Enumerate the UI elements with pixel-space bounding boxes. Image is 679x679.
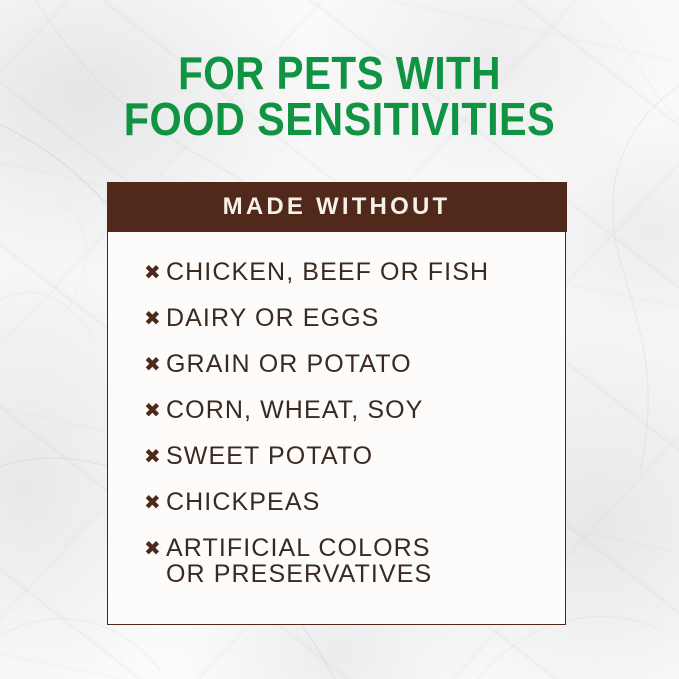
cross-mark-icon: ✖ bbox=[144, 259, 166, 285]
list-item-label: CHICKPEAS bbox=[166, 489, 547, 515]
list-item: ✖ CHICKEN, BEEF OR FISH bbox=[144, 259, 547, 285]
list-item-label: ARTIFICIAL COLORS OR PRESERVATIVES bbox=[166, 535, 547, 587]
list-item: ✖ SWEET POTATO bbox=[144, 443, 547, 469]
card-header-title: MADE WITHOUT bbox=[223, 193, 451, 221]
headline-line-1: FOR PETS WITH bbox=[41, 52, 639, 95]
card-header: MADE WITHOUT bbox=[107, 182, 567, 232]
list-item: ✖ DAIRY OR EGGS bbox=[144, 305, 547, 331]
list-item-label: CORN, WHEAT, SOY bbox=[166, 397, 547, 423]
cross-mark-icon: ✖ bbox=[144, 397, 166, 423]
list-item: ✖ CORN, WHEAT, SOY bbox=[144, 397, 547, 423]
excluded-ingredients-list: ✖ CHICKEN, BEEF OR FISH ✖ DAIRY OR EGGS … bbox=[108, 259, 565, 587]
cross-mark-icon: ✖ bbox=[144, 351, 166, 377]
headline: FOR PETS WITH FOOD SENSITIVITIES bbox=[0, 52, 679, 141]
promo-graphic: FOR PETS WITH FOOD SENSITIVITIES MADE WI… bbox=[0, 0, 679, 679]
cross-mark-icon: ✖ bbox=[144, 305, 166, 331]
list-item-label: DAIRY OR EGGS bbox=[166, 305, 547, 331]
list-item: ✖ ARTIFICIAL COLORS OR PRESERVATIVES bbox=[144, 535, 547, 587]
list-item: ✖ GRAIN OR POTATO bbox=[144, 351, 547, 377]
headline-line-2: FOOD SENSITIVITIES bbox=[34, 98, 645, 141]
list-item-label: CHICKEN, BEEF OR FISH bbox=[166, 259, 547, 285]
card-body: ✖ CHICKEN, BEEF OR FISH ✖ DAIRY OR EGGS … bbox=[108, 232, 565, 625]
cross-mark-icon: ✖ bbox=[144, 535, 166, 561]
list-item-label: SWEET POTATO bbox=[166, 443, 547, 469]
cross-mark-icon: ✖ bbox=[144, 443, 166, 469]
list-item-label: GRAIN OR POTATO bbox=[166, 351, 547, 377]
made-without-card: MADE WITHOUT ✖ CHICKEN, BEEF OR FISH ✖ D… bbox=[107, 182, 566, 625]
list-item: ✖ CHICKPEAS bbox=[144, 489, 547, 515]
cross-mark-icon: ✖ bbox=[144, 489, 166, 515]
